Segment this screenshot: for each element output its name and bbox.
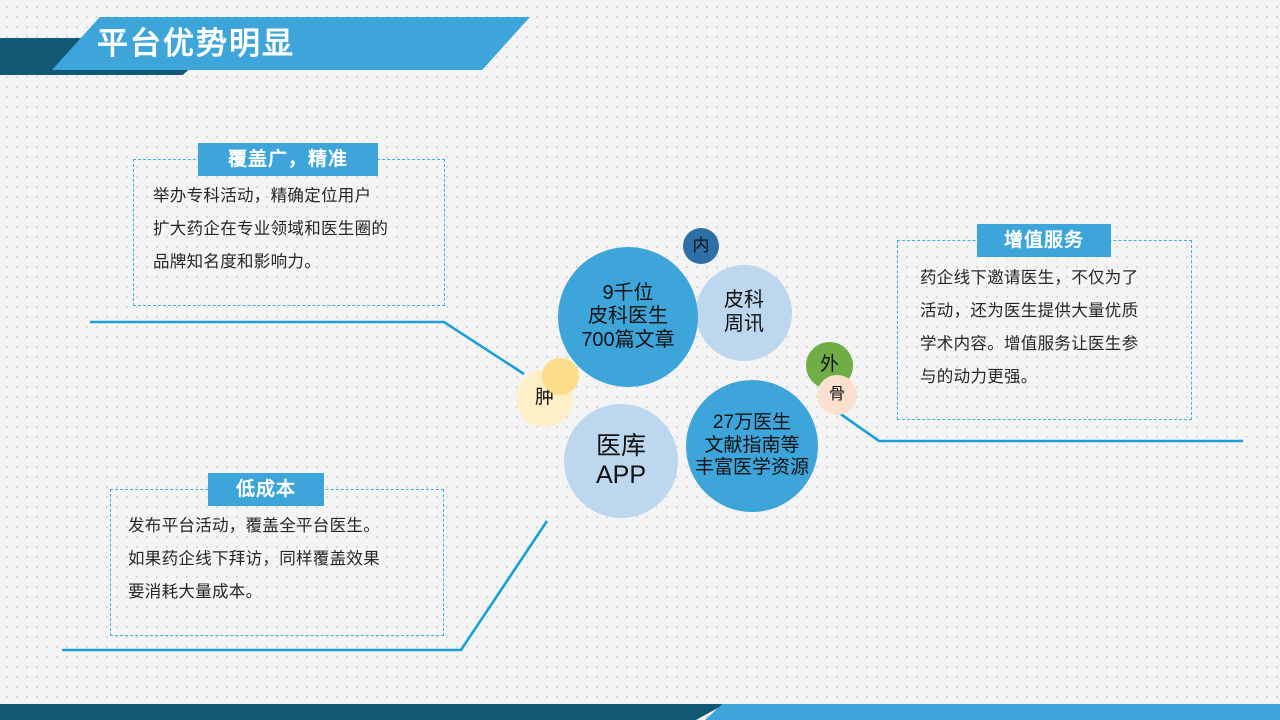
bubble-orthopedics[interactable]: 骨 bbox=[817, 375, 857, 415]
card-coverage-body: 举办专科活动，精确定位用户 扩大药企在专业领域和医生圈的 品牌知名度和影响力。 bbox=[153, 180, 443, 279]
bubble-dermatologists[interactable]: 9千位 皮科医生 700篇文章 bbox=[558, 247, 698, 387]
bubble-resources-label: 27万医生 文献指南等 丰富医学资源 bbox=[695, 412, 809, 479]
bubble-weekly-label: 皮科 周讯 bbox=[724, 289, 764, 336]
slide-canvas: 平台优势明显 覆盖广，精准 举办专科活动，精确定位用户 扩大药企在专业领域和医生… bbox=[0, 0, 1280, 720]
bubble-internal[interactable]: 内 bbox=[683, 228, 719, 264]
card-valueadd-body: 药企线下邀请医生，不仅为了 活动，还为医生提供大量优质 学术内容。增值服务让医生… bbox=[920, 262, 1182, 394]
bubble-internal-label: 内 bbox=[693, 236, 710, 256]
card-valueadd-title: 增值服务 bbox=[977, 224, 1111, 257]
footer-band-light bbox=[705, 704, 1280, 720]
footer-band-dark bbox=[0, 704, 725, 720]
bubble-yiku-app-label: 医库 APP bbox=[596, 432, 646, 491]
card-lowcost-body: 发布平台活动，覆盖全平台医生。 如果药企线下拜访，同样覆盖效果 要消耗大量成本。 bbox=[128, 510, 438, 609]
bubble-orthopedics-label: 骨 bbox=[829, 386, 845, 405]
bubble-oncology-dot[interactable] bbox=[542, 358, 579, 395]
bubble-weekly[interactable]: 皮科 周讯 bbox=[696, 265, 792, 361]
card-coverage-title: 覆盖广，精准 bbox=[198, 143, 378, 176]
page-title: 平台优势明显 bbox=[97, 22, 295, 66]
bubble-dermatologists-label: 9千位 皮科医生 700篇文章 bbox=[581, 282, 674, 353]
card-lowcost-title: 低成本 bbox=[208, 473, 324, 506]
bubble-surgery-label: 外 bbox=[820, 354, 839, 376]
bubble-yiku-app[interactable]: 医库 APP bbox=[564, 404, 678, 518]
connector-coverage bbox=[90, 322, 524, 374]
bubble-resources[interactable]: 27万医生 文献指南等 丰富医学资源 bbox=[686, 380, 818, 512]
